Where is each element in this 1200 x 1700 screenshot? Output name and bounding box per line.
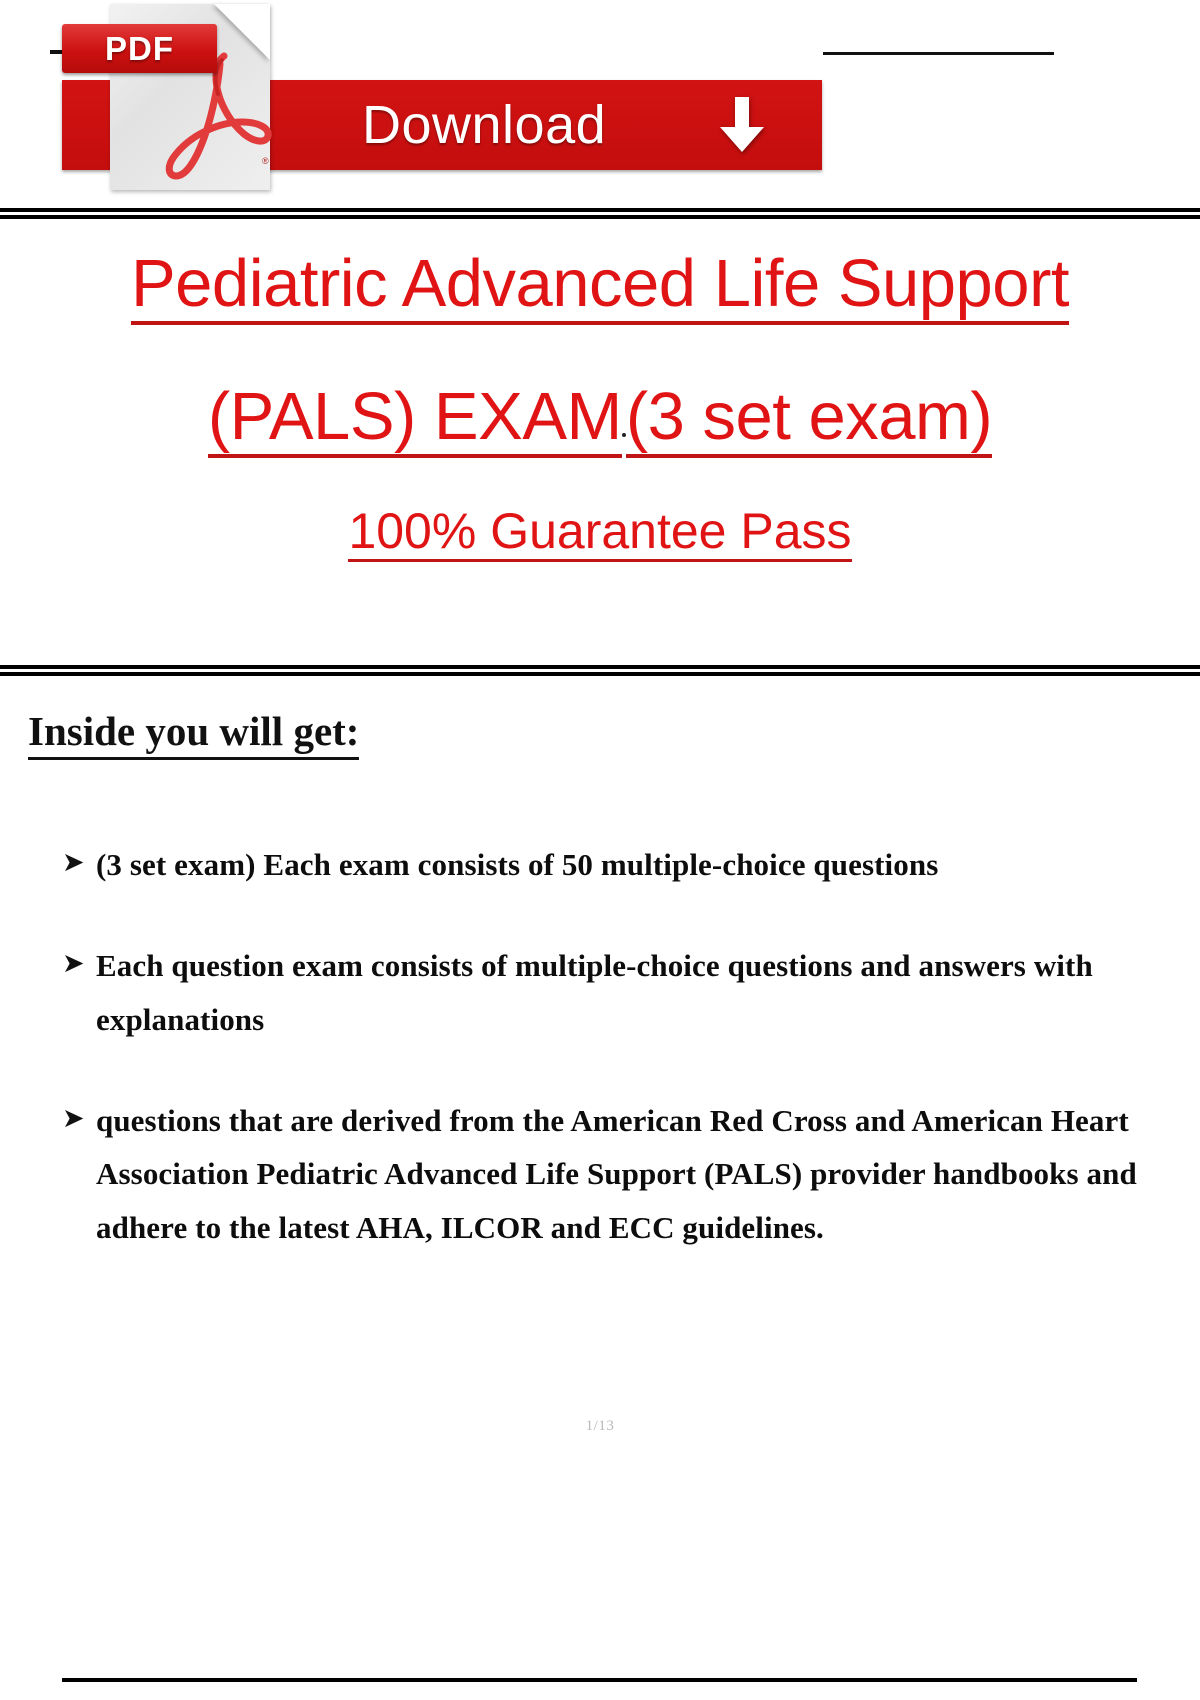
list-item-text: (3 set exam) Each exam consists of 50 mu… [96,838,1200,891]
bullet-arrow-icon: ➤ [62,840,85,886]
registered-mark: ® [262,156,269,166]
pdf-file-icon: ® PDF [110,4,270,190]
list-item: ➤ questions that are derived from the Am… [58,1094,1200,1254]
document-title-block: Pediatric Advanced Life Support (PALS) E… [0,250,1200,562]
title-line-1-text: Pediatric Advanced Life Support [131,250,1069,325]
bottom-horizontal-rule [62,1678,1137,1682]
section-heading-inside-you-will-get: Inside you will get: [28,708,359,760]
benefits-bullet-list: ➤ (3 set exam) Each exam consists of 50 … [58,838,1200,1254]
list-item-text: Each question exam consists of multiple-… [96,939,1200,1046]
title-line-1: Pediatric Advanced Life Support [0,250,1200,325]
pdf-badge-label: PDF [62,30,217,68]
down-arrow-icon [718,97,766,153]
download-header: Download ® PDF [0,0,1200,212]
title-line-3-text: 100% Guarantee Pass [348,506,851,562]
title-line-2-part-a: (PALS) EXAM [208,383,622,458]
bullet-arrow-icon: ➤ [62,1096,85,1142]
divider-top [0,208,1200,219]
list-item-text: questions that are derived from the Amer… [96,1094,1200,1254]
list-item: ➤ (3 set exam) Each exam consists of 50 … [58,838,1200,891]
title-line-2: (PALS) EXAM(3 set exam) [0,383,1200,458]
page-number: 1/13 [0,1418,1200,1435]
divider-middle [0,665,1200,676]
bullet-arrow-icon: ➤ [62,941,85,987]
title-line-2-part-b: (3 set exam) [626,383,992,458]
download-button-label: Download [362,94,606,156]
right-horizontal-rule [823,52,1054,55]
list-item: ➤ Each question exam consists of multipl… [58,939,1200,1046]
pdf-badge: PDF [62,24,217,73]
title-line-3: 100% Guarantee Pass [0,506,1200,562]
